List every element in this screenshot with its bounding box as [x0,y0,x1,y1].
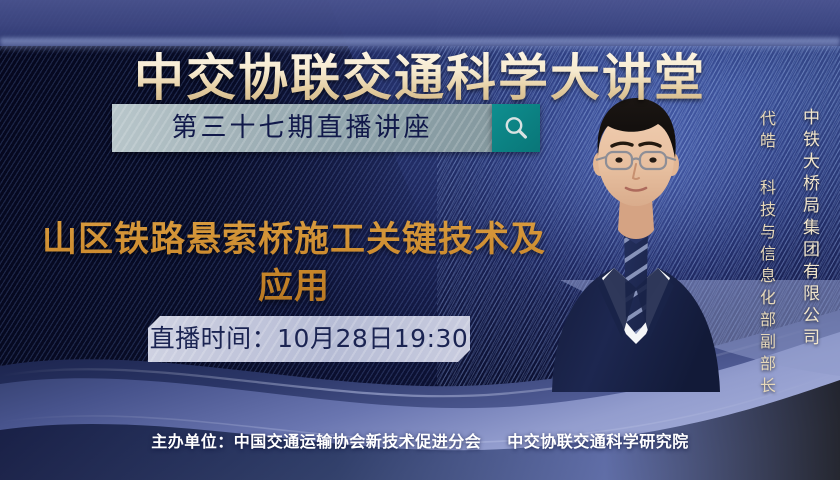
search-icon-button[interactable] [492,104,540,152]
speaker-name-and-role: 代皓 科技与信息化部副部长 [754,110,778,399]
footer-host-label: 主办单位： [151,432,234,451]
background-top-band [0,0,840,46]
search-icon [502,114,530,142]
footer-host-1: 中国交通运输协会新技术促进分会 [234,432,482,451]
broadcast-time-chip: 直播时间：10月28日19:30 [148,316,470,362]
broadcast-time-label: 直播时间：10月28日19:30 [148,316,470,362]
lecture-title: 山区铁路悬索桥施工关键技术及应用 [34,217,554,311]
subtitle-label: 第三十七期直播讲座 [112,104,492,152]
footer-host-2: 中交协联交通科学研究院 [507,432,689,451]
promo-poster: 中交协联交通科学大讲堂 第三十七期直播讲座 山区铁路悬索桥施工关键技术及应用 直… [0,0,840,480]
subtitle-banner: 第三十七期直播讲座 [112,104,492,152]
speaker-organization: 中铁大桥局集团有限公司 [797,108,822,350]
speaker-portrait [538,72,734,392]
page-title: 中交协联交通科学大讲堂 [0,48,840,108]
footer-hosts: 主办单位：中国交通运输协会新技术促进分会中交协联交通科学研究院 [0,428,840,452]
